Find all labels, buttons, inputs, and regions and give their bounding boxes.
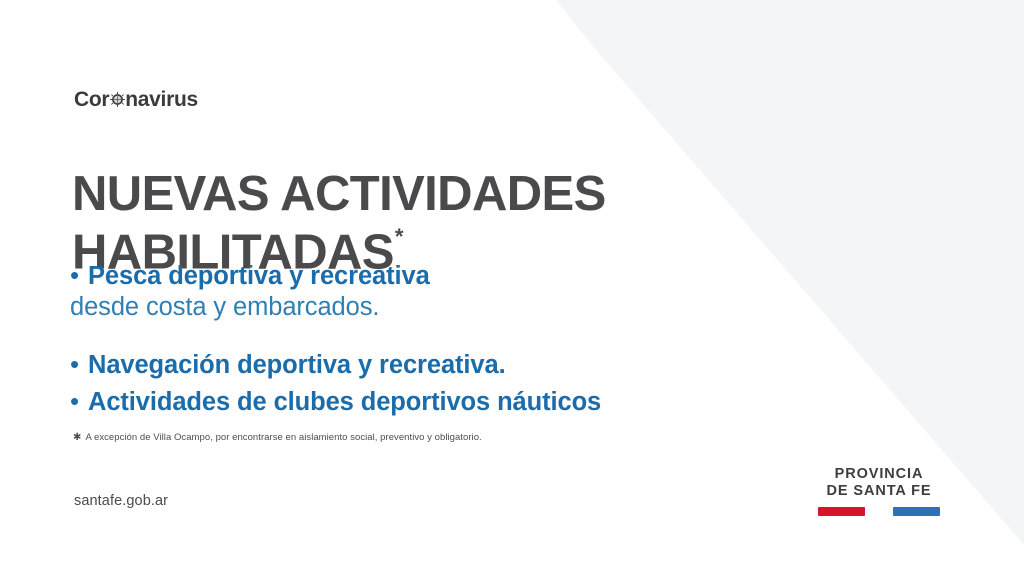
list-item-subtext-row: desde costa y embarcados. <box>70 292 830 323</box>
kicker-text-before: Cor <box>74 88 109 112</box>
list-item-label: Actividades de clubes deportivos náutico… <box>88 386 601 418</box>
coronavirus-kicker: Cor <box>74 88 198 112</box>
footnote-asterisk-icon: ✱ <box>73 432 81 443</box>
kicker-text-after: navirus <box>125 88 198 112</box>
list-group-navigation: • Navegación deportiva y recreativa. • A… <box>70 349 830 418</box>
provincia-santa-fe-logo: PROVINCIA DE SANTA FE <box>818 466 940 516</box>
title-asterisk-marker: * <box>395 224 403 249</box>
logo-line-1: PROVINCIA <box>818 466 940 483</box>
logo-bars <box>818 507 940 516</box>
list-item: • Actividades de clubes deportivos náuti… <box>70 386 830 418</box>
bullet-marker-icon: • <box>70 262 88 288</box>
page-title-line-1: NUEVAS ACTIVIDADES <box>72 169 772 219</box>
coronavirus-icon <box>110 89 125 104</box>
logo-line-2: DE SANTA FE <box>818 483 940 500</box>
list-item-label: Navegación deportiva y recreativa. <box>88 349 506 381</box>
slide-content: Cor <box>0 0 1024 576</box>
site-url[interactable]: santafe.gob.ar <box>74 493 168 509</box>
footnote: ✱A excepción de Villa Ocampo, por encont… <box>73 431 482 445</box>
list-group-fishing: • Pesca deportiva y recreativa desde cos… <box>70 260 830 323</box>
list-item: • Navegación deportiva y recreativa. <box>70 349 830 381</box>
bullet-marker-icon: • <box>70 351 88 377</box>
slide-canvas: Cor <box>0 0 1024 576</box>
logo-bar-red <box>818 507 865 516</box>
list-item-subtext: desde costa y embarcados. <box>70 292 379 323</box>
bullet-marker-icon: • <box>70 388 88 414</box>
logo-bar-blue <box>893 507 940 516</box>
list-item: • Pesca deportiva y recreativa <box>70 260 830 292</box>
list-item-label: Pesca deportiva y recreativa <box>88 260 430 292</box>
activities-list: • Pesca deportiva y recreativa desde cos… <box>70 260 830 418</box>
footnote-text: A excepción de Villa Ocampo, por encontr… <box>85 432 481 443</box>
